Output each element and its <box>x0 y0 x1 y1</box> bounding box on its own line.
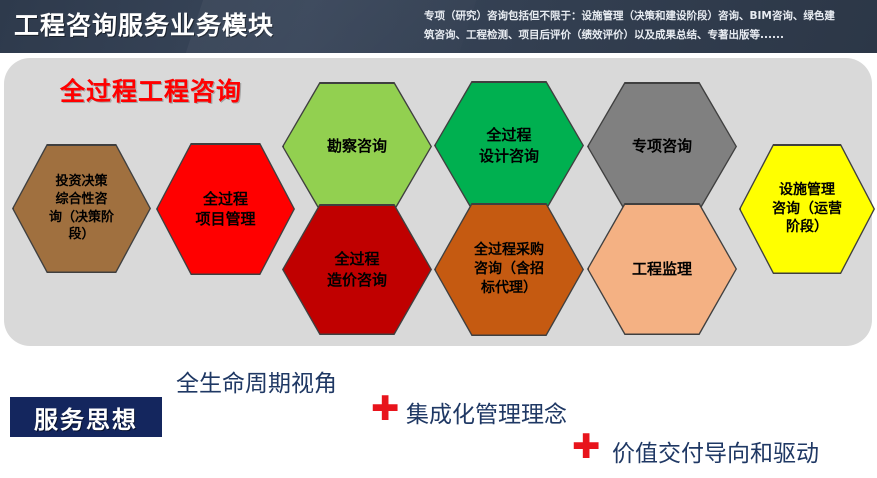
header-note-line-1: 专项（研究）咨询包括但不限于：设施管理（决策和建设阶段）咨询、BIM咨询、绿色建 <box>424 7 870 26</box>
hexagon-label: 设施管理 咨询（运营 阶段） <box>754 181 860 238</box>
hexagon-special-consulting[interactable]: 专项咨询 <box>587 82 737 211</box>
hexagon-whole-process-cost-consulting[interactable]: 全过程 造价咨询 <box>282 204 432 335</box>
header-bar: 工程咨询服务业务模块 专项（研究）咨询包括但不限于：设施管理（决策和建设阶段）咨… <box>0 0 877 53</box>
service-philosophy-label: 服务思想 <box>34 400 138 435</box>
hexagon-label: 全过程采购 咨询（含招 标代理） <box>450 241 568 298</box>
header-note: 专项（研究）咨询包括但不限于：设施管理（决策和建设阶段）咨询、BIM咨询、绿色建… <box>424 7 870 45</box>
hexagon-investment-decision[interactable]: 投资决策 综合性咨 询（决策阶 段） <box>12 144 151 273</box>
hexagon-fill: 专项咨询 <box>589 84 736 210</box>
hexagon-fill: 全过程采购 咨询（含招 标代理） <box>436 205 583 335</box>
hexagon-whole-process-procurement-consulting[interactable]: 全过程采购 咨询（含招 标代理） <box>434 203 584 336</box>
header-note-line-2: 筑咨询、工程检测、项目后评价（绩效评价）以及成果总结、专著出版等...... <box>424 26 870 45</box>
hexagon-fill: 工程监理 <box>589 205 736 334</box>
panel-title: 全过程工程咨询 <box>60 72 242 108</box>
plus-icon-1: ✚ <box>371 392 400 426</box>
hexagon-facility-management-consulting[interactable]: 设施管理 咨询（运营 阶段） <box>739 144 875 274</box>
hexagon-label: 全过程 项目管理 <box>171 189 280 230</box>
hexagon-label: 专项咨询 <box>603 136 721 156</box>
plus-icon-2: ✚ <box>572 430 601 464</box>
hexagon-label: 全过程 设计咨询 <box>450 125 568 166</box>
hexagon-whole-process-project-management[interactable]: 全过程 项目管理 <box>156 143 295 275</box>
hexagon-label: 勘察咨询 <box>298 136 416 156</box>
hexagon-fill: 全过程 造价咨询 <box>284 206 431 334</box>
diagram-panel: 全过程工程咨询 投资决策 综合性咨 询（决策阶 段）全过程 项目管理勘察咨询全过… <box>4 58 872 346</box>
hexagon-fill: 全过程 项目管理 <box>158 145 294 274</box>
hexagon-label: 投资决策 综合性咨 询（决策阶 段） <box>27 173 136 243</box>
hexagon-fill: 勘察咨询 <box>284 84 431 210</box>
page-title: 工程咨询服务业务模块 <box>14 6 274 42</box>
hexagon-survey-consulting[interactable]: 勘察咨询 <box>282 82 432 211</box>
phrase-lifecycle-perspective: 全生命周期视角 <box>176 364 337 398</box>
hexagon-label: 全过程 造价咨询 <box>298 249 416 290</box>
hexagon-whole-process-design-consulting[interactable]: 全过程 设计咨询 <box>434 81 584 210</box>
hexagon-construction-supervision[interactable]: 工程监理 <box>587 203 737 335</box>
hexagon-fill: 全过程 设计咨询 <box>436 83 583 209</box>
service-philosophy-badge: 服务思想 <box>10 397 162 437</box>
hexagon-fill: 投资决策 综合性咨 询（决策阶 段） <box>14 146 150 272</box>
hexagon-fill: 设施管理 咨询（运营 阶段） <box>741 146 874 273</box>
hexagon-label: 工程监理 <box>603 259 721 279</box>
phrase-integrated-management: 集成化管理理念 <box>406 395 567 429</box>
phrase-value-delivery: 价值交付导向和驱动 <box>612 434 819 468</box>
